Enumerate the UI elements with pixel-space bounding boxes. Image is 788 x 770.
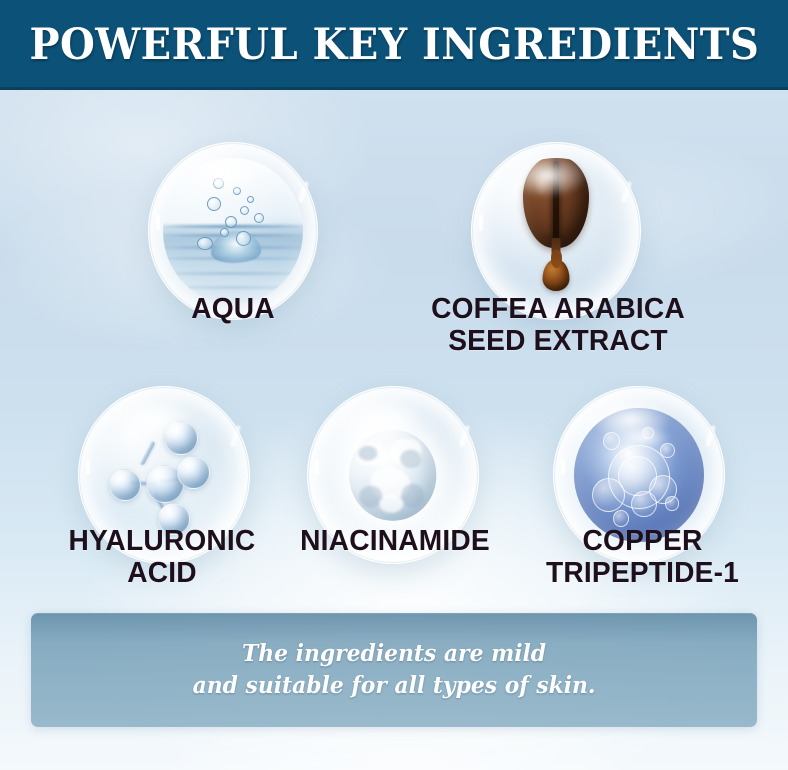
caption-text: The ingredients are mild and suitable fo… <box>193 638 596 701</box>
poster-header: POWERFUL KEY INGREDIENTS <box>0 0 788 90</box>
ingredient-label-hyaluronic: HYALURONIC ACID <box>46 525 279 590</box>
ingredients-poster: POWERFUL KEY INGREDIENTS <box>0 0 788 770</box>
caption-panel: The ingredients are mild and suitable fo… <box>31 613 757 727</box>
ingredient-label-niacinamide: NIACINAMIDE <box>282 525 509 557</box>
ingredient-label-coffee: COFFEA ARABICA SEED EXTRACT <box>403 293 713 358</box>
water-splash-icon <box>163 158 302 304</box>
ingredient-label-aqua: AQUA <box>143 293 323 325</box>
ingredient-label-copper: COPPER TRIPEPTIDE-1 <box>524 525 762 590</box>
coffee-bean-drip-icon <box>486 158 625 304</box>
page-title: POWERFUL KEY INGREDIENTS <box>29 20 759 70</box>
